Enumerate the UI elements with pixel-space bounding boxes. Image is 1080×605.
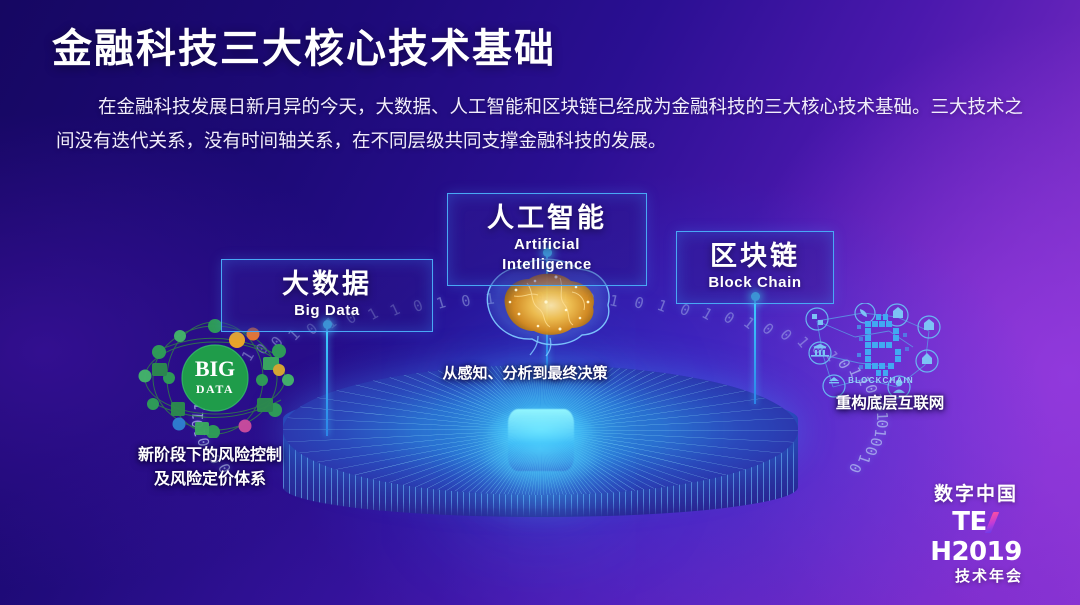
label-ai-en: Artificial Intelligence (468, 235, 626, 275)
connector-stem-big-data (326, 324, 328, 436)
platform-disc (283, 365, 798, 550)
page-title: 金融科技三大核心技术基础 (52, 16, 556, 74)
blockchain-b-icon: BLOCKCHAIN (793, 303, 953, 403)
binary-digit: 1 (870, 428, 889, 439)
logo-mark-suffix: H2019 (930, 537, 1022, 567)
disc-core-pillar (508, 409, 574, 471)
label-big-data-en: Big Data (242, 301, 412, 321)
caption-big-data: 新阶段下的风险控制 及风险定价体系 (104, 444, 316, 492)
binary-digit: 1 (854, 452, 874, 466)
binary-digit: 1 (699, 304, 716, 324)
binary-digit: 1 (435, 293, 449, 313)
binary-digit: 0 (845, 460, 865, 475)
binary-digit: 0 (873, 420, 891, 430)
big-data-cluster-icon: BIG DATA (133, 318, 298, 438)
logo-wordmark-tech2019: TEH2019 (910, 507, 1042, 567)
caption-artificial-intelligence: 从感知、分析到最终决策 (425, 363, 625, 385)
label-box-big-data[interactable]: 大数据 Big Data (221, 259, 433, 332)
body-paragraph: 在金融科技发展日新月异的今天，大数据、人工智能和区块链已经成为金融科技的三大核心… (56, 90, 1028, 158)
binary-digit: 1 (655, 296, 670, 316)
binary-digit: 0 (759, 319, 778, 338)
label-block-chain-cn: 区块链 (697, 239, 813, 273)
logo-mark-prefix: TE (952, 507, 987, 537)
label-box-artificial-intelligence[interactable]: 人工智能 Artificial Intelligence (447, 193, 647, 286)
caption-block-chain: 重构底层互联网 (800, 393, 980, 415)
label-big-data-cn: 大数据 (242, 267, 412, 301)
label-ai-cn: 人工智能 (468, 201, 626, 235)
event-logo: 数字中国 TEH2019 技术年会 (910, 483, 1042, 587)
binary-digit: 0 (867, 436, 886, 448)
binary-digit: 0 (861, 444, 881, 457)
logo-slash-icon (987, 512, 1000, 533)
logo-line-annual-conference: 技术年会 (936, 567, 1042, 587)
big-data-icon-text-top: BIG (195, 356, 235, 381)
logo-line-digital-china: 数字中国 (910, 483, 1042, 507)
label-block-chain-en: Block Chain (697, 273, 813, 293)
binary-digit: 0 (459, 291, 472, 311)
big-data-icon-text-bottom: DATA (196, 382, 234, 396)
caption-big-data-line1: 新阶段下的风险控制 (104, 444, 316, 468)
slide-canvas: 金融科技三大核心技术基础 在金融科技发展日新月异的今天，大数据、人工智能和区块链… (0, 0, 1080, 605)
caption-big-data-line2: 及风险定价体系 (104, 468, 316, 492)
binary-digit: 0 (720, 308, 737, 328)
binary-digit: 0 (632, 293, 646, 313)
label-box-block-chain[interactable]: 区块链 Block Chain (676, 231, 834, 304)
blockchain-icon-text: BLOCKCHAIN (848, 376, 914, 385)
connector-stem-block-chain (754, 296, 756, 404)
